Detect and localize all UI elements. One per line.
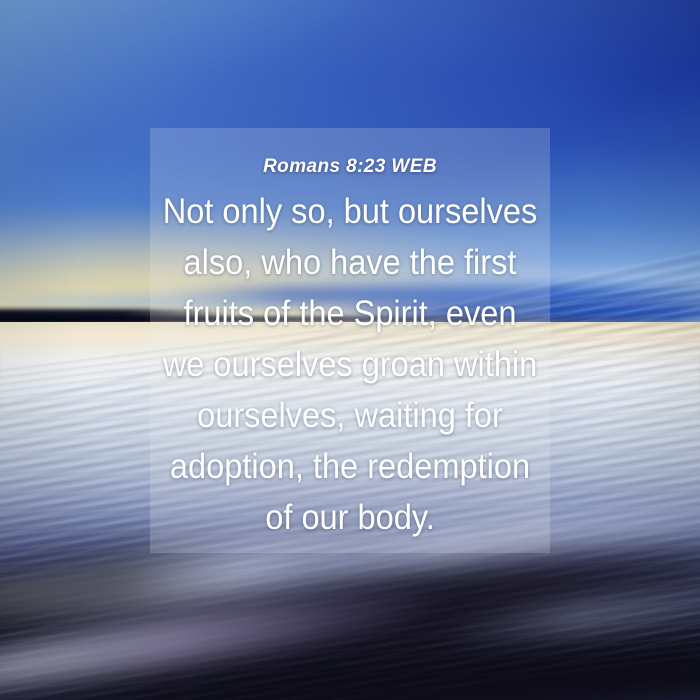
verse-line: Not only so, but ourselves — [160, 186, 539, 237]
verse-line: of our body. — [160, 492, 539, 543]
wave-trough — [0, 619, 700, 700]
verse-line: ourselves, waiting for — [160, 390, 539, 441]
verse-line: we ourselves groan within — [160, 339, 539, 390]
verse-overlay-panel: Romans 8:23 WEB Not only so, but ourselv… — [150, 128, 550, 553]
verse-line: fruits of the Spirit, even — [160, 288, 539, 339]
verse-reference: Romans 8:23 WEB — [150, 156, 550, 178]
wave-crest — [429, 577, 700, 657]
verse-text: Not only so, but ourselves also, who hav… — [160, 186, 539, 543]
verse-image-canvas: Romans 8:23 WEB Not only so, but ourselv… — [0, 0, 700, 700]
verse-line: also, who have the first — [160, 237, 539, 288]
verse-line: adoption, the redemption — [160, 441, 539, 492]
wave-crest — [0, 572, 461, 700]
